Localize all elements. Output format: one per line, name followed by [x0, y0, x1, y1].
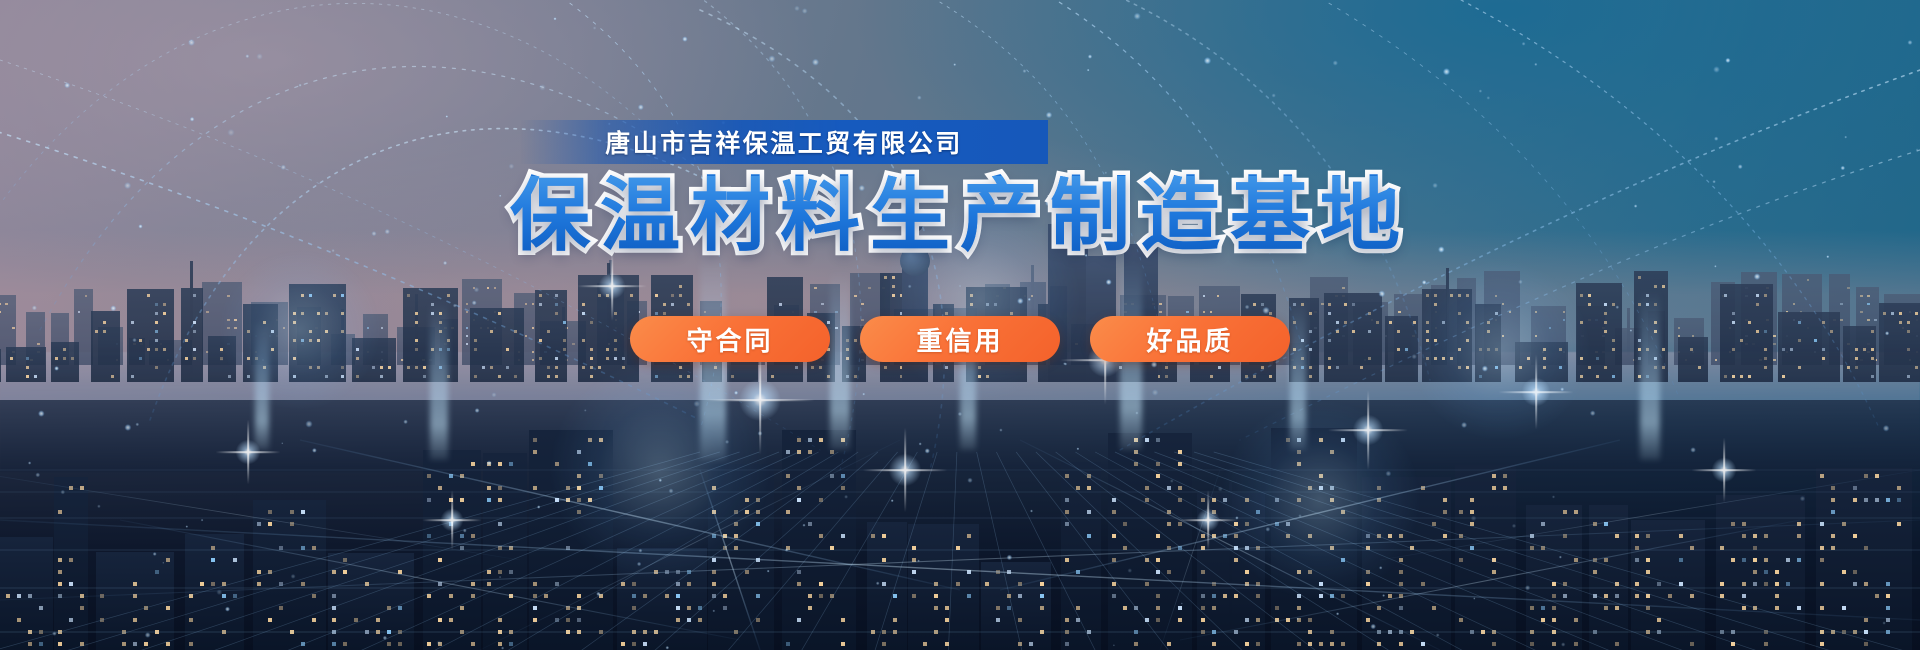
feature-pill-3[interactable]: 好品质 [1090, 316, 1290, 362]
hero-banner: 唐山市吉祥保温工贸有限公司 保温材料生产制造基地 保温材料生产制造基地 守合同重… [0, 0, 1920, 650]
banner-content: 唐山市吉祥保温工贸有限公司 保温材料生产制造基地 保温材料生产制造基地 守合同重… [0, 0, 1920, 650]
feature-pill-2[interactable]: 重信用 [860, 316, 1060, 362]
feature-pill-group: 守合同重信用好品质 [0, 316, 1920, 362]
company-name-band: 唐山市吉祥保温工贸有限公司 [520, 120, 1048, 164]
company-name-text: 唐山市吉祥保温工贸有限公司 [605, 124, 963, 160]
feature-pill-1[interactable]: 守合同 [630, 316, 830, 362]
headline-text: 保温材料生产制造基地 [0, 176, 1920, 256]
